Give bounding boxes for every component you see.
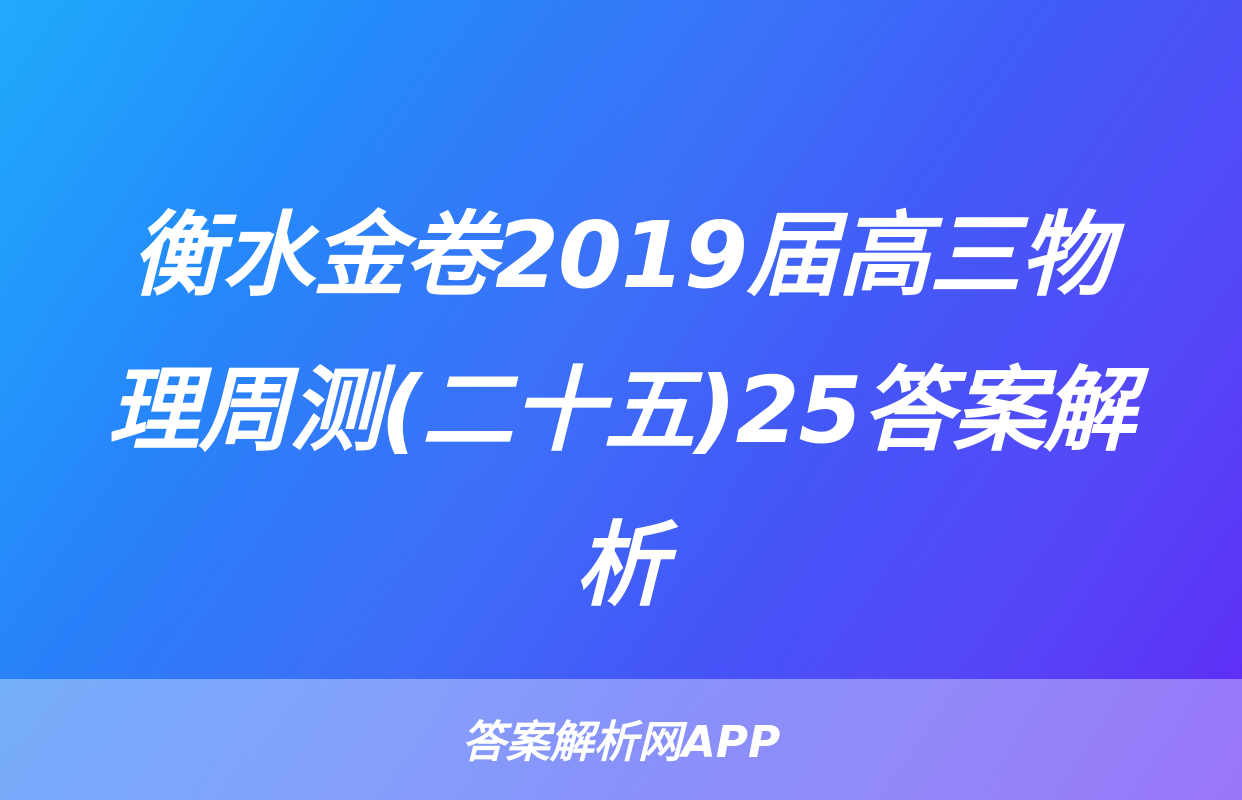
title-line-1: 衡水金卷2019届高三物 bbox=[55, 178, 1187, 333]
title-line-2: 理周测(二十五)25答案解 bbox=[55, 333, 1187, 488]
footer-brand-band: 答案解析网APP bbox=[0, 679, 1242, 800]
brand-name-label: 答案解析网APP bbox=[462, 706, 781, 770]
poster-canvas: 衡水金卷2019届高三物 理周测(二十五)25答案解 析 答案解析网APP bbox=[0, 0, 1242, 800]
page-title: 衡水金卷2019届高三物 理周测(二十五)25答案解 析 bbox=[0, 178, 1242, 643]
title-line-3: 析 bbox=[55, 488, 1187, 643]
